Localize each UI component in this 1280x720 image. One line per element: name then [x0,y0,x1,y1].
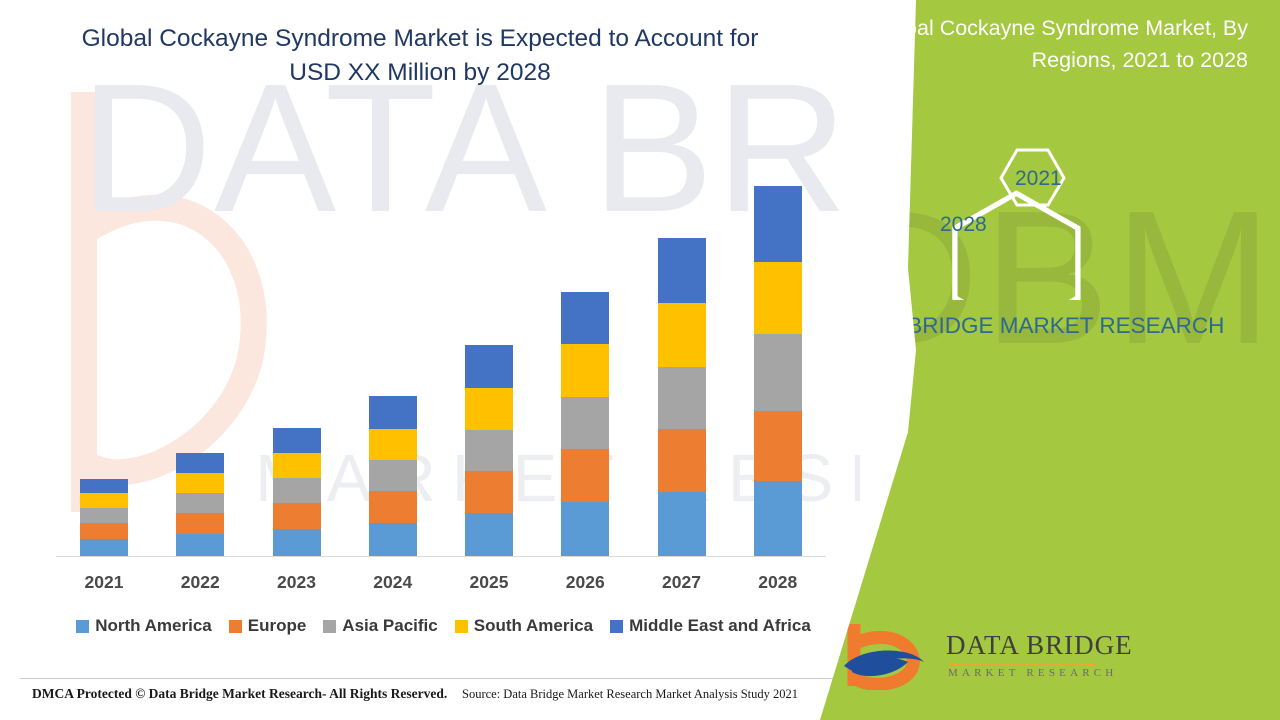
bar-group [730,100,826,556]
bar-segment[interactable] [273,428,321,453]
stacked-bar[interactable] [369,396,417,556]
data-bridge-logo: DATA BRIDGE MARKET RESEARCH [838,620,1108,692]
chart-title: Global Cockayne Syndrome Market is Expec… [75,22,765,90]
legend-swatch-icon [455,620,468,633]
legend-swatch-icon [76,620,89,633]
stacked-bar[interactable] [273,428,321,556]
bar-segment[interactable] [273,453,321,478]
bar-segment[interactable] [465,388,513,430]
logo-title: DATA BRIDGE [946,630,1133,661]
bar-segment[interactable] [465,345,513,388]
stacked-bar[interactable] [176,453,224,556]
bar-segment[interactable] [561,502,609,556]
bar-segment[interactable] [658,367,706,429]
bar-segment[interactable] [80,523,128,539]
bar-segment[interactable] [754,334,802,411]
x-axis-tick-label: 2024 [345,572,441,593]
bar-segment[interactable] [273,478,321,503]
stacked-bar[interactable] [465,345,513,556]
stacked-bar[interactable] [80,479,128,556]
logo-divider [948,664,1096,666]
legend-item[interactable]: Middle East and Africa [610,616,811,636]
hexagon-back-label: 2028 [940,213,987,237]
legend-swatch-icon [323,620,336,633]
stacked-bar[interactable] [658,238,706,556]
legend-label: Asia Pacific [342,616,437,636]
bar-segment[interactable] [176,534,224,556]
bar-segment[interactable] [80,539,128,556]
bar-segment[interactable] [658,429,706,492]
bar-segment[interactable] [369,523,417,556]
legend-label: Europe [248,616,307,636]
bar-segment[interactable] [658,238,706,303]
hexagon-group: 2021 2028 [920,140,1150,300]
x-axis-tick-label: 2025 [441,572,537,593]
bar-segment[interactable] [369,460,417,491]
bar-segment[interactable] [658,492,706,556]
legend-label: South America [474,616,593,636]
bar-segment[interactable] [176,493,224,513]
bar-segment[interactable] [80,493,128,508]
stacked-bar[interactable] [561,292,609,556]
bar-group [56,100,152,556]
panel-brand-text: DATA BRIDGE MARKET RESEARCH [820,310,1250,343]
chart-page: DATA BRIDGE MARKET RESEARCH Global Cocka… [0,0,1280,720]
hexagon-back [955,193,1078,300]
bar-segment[interactable] [369,491,417,523]
bar-segment[interactable] [465,430,513,471]
footer: DMCA Protected © Data Bridge Market Rese… [20,684,845,710]
legend-item[interactable]: South America [455,616,593,636]
panel-title: Global Cockayne Syndrome Market, By Regi… [828,12,1248,77]
bar-segment[interactable] [754,262,802,334]
plot-area [56,100,826,556]
source-note: Source: Data Bridge Market Research Mark… [462,687,798,702]
bar-group [537,100,633,556]
hexagon-front-label: 2021 [1015,167,1062,191]
x-axis-labels: 20212022202320242025202620272028 [56,572,826,602]
x-axis-tick-label: 2026 [537,572,633,593]
legend-item[interactable]: Asia Pacific [323,616,437,636]
bar-group [441,100,537,556]
bar-segment[interactable] [465,513,513,556]
bar-segment[interactable] [176,453,224,473]
footer-divider [20,678,842,679]
legend-swatch-icon [229,620,242,633]
legend-item[interactable]: Europe [229,616,307,636]
green-side-panel: DBMR Global Cockayne Syndrome Market, By… [820,0,1280,720]
logo-mark-icon [838,620,938,690]
bar-segment[interactable] [80,479,128,493]
bar-segment[interactable] [754,186,802,262]
bar-segment[interactable] [369,429,417,460]
bar-segment[interactable] [561,449,609,502]
bar-segment[interactable] [561,344,609,397]
bar-segment[interactable] [176,473,224,493]
x-axis-tick-label: 2027 [634,572,730,593]
dmca-notice: DMCA Protected © Data Bridge Market Rese… [32,686,447,702]
bar-segment[interactable] [561,292,609,344]
bar-segment[interactable] [561,397,609,449]
bar-segment[interactable] [658,303,706,367]
legend-label: North America [95,616,212,636]
bar-segment[interactable] [369,396,417,429]
bar-group [345,100,441,556]
bar-segment[interactable] [273,529,321,556]
bar-segment[interactable] [273,503,321,529]
bar-group [152,100,248,556]
bar-group [634,100,730,556]
chart-legend: North AmericaEuropeAsia PacificSouth Ame… [56,616,831,636]
legend-label: Middle East and Africa [629,616,811,636]
bar-segment[interactable] [754,481,802,556]
bar-segment[interactable] [754,411,802,481]
bar-group [249,100,345,556]
logo-subtitle: MARKET RESEARCH [948,667,1117,679]
stacked-bar[interactable] [754,186,802,556]
x-axis-tick-label: 2021 [56,572,152,593]
bar-segment[interactable] [80,508,128,523]
x-axis-tick-label: 2023 [249,572,345,593]
bar-segment[interactable] [176,513,224,534]
x-axis-tick-label: 2022 [152,572,248,593]
legend-item[interactable]: North America [76,616,212,636]
legend-swatch-icon [610,620,623,633]
x-axis-tick-label: 2028 [730,572,826,593]
x-axis-line [56,556,826,557]
bar-segment[interactable] [465,471,513,513]
